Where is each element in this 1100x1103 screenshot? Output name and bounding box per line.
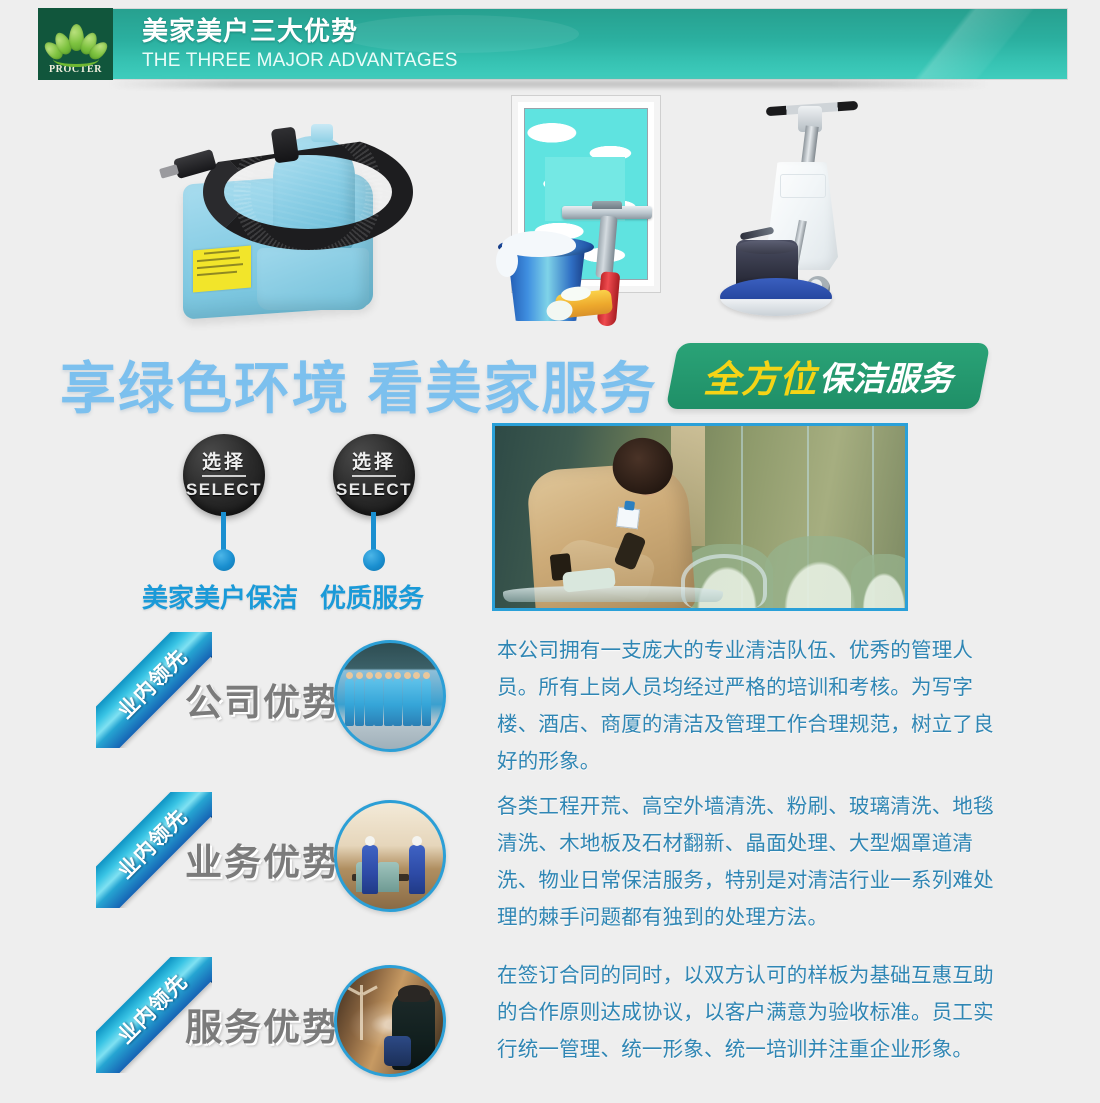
select-badge-2-label: 优质服务 bbox=[320, 578, 424, 615]
ribbon-text-1: 业内领先 bbox=[110, 641, 193, 724]
company-logo: PROCTER bbox=[38, 8, 113, 80]
advantage-title-3: 服务优势 bbox=[185, 997, 341, 1051]
ulv-sprayer-image bbox=[165, 98, 465, 328]
select-badge-1-en: SELECT bbox=[186, 481, 262, 498]
advantage-text-1: 本公司拥有一支庞大的专业清洁队伍、优秀的管理人员。所有上岗人员均经过严格的培训和… bbox=[497, 632, 1007, 780]
select-badge-1-cn: 选择 bbox=[202, 453, 246, 477]
staff-lineup-photo bbox=[334, 640, 446, 752]
advantage-row-business: 业内领先 业务优势 各类工程开荒、高空外墙清洗、粉刷、玻璃清洗、地毯清洗、木地板… bbox=[0, 788, 1100, 938]
full-service-banner: 全方位 保洁服务 bbox=[666, 343, 991, 409]
advantage-row-company: 业内领先 公司优势 本公司拥有一支庞大的专业清洁队伍、优秀的管理人员。所有上岗人… bbox=[0, 628, 1100, 778]
select-badge-2[interactable]: 选择 SELECT bbox=[333, 434, 415, 516]
select-badge-2-en: SELECT bbox=[336, 481, 412, 498]
floor-polisher-image bbox=[718, 90, 908, 330]
pin-dot-2 bbox=[363, 549, 385, 571]
select-badge-1[interactable]: 选择 SELECT bbox=[183, 434, 265, 516]
sprayer-spec-label bbox=[193, 245, 251, 292]
spraying-service-photo bbox=[334, 965, 446, 1077]
pin-stem-2 bbox=[371, 512, 376, 552]
staff-cleaning-glass-table-photo bbox=[492, 423, 908, 611]
advantage-text-2: 各类工程开荒、高空外墙清洗、粉刷、玻璃清洗、地毯清洗、木地板及石材翻新、晶面处理… bbox=[497, 788, 1007, 936]
advantage-row-service: 业内领先 服务优势 在签订合同的同时，以双方认可的样板为基础互惠互助的合作原则达… bbox=[0, 953, 1100, 1103]
ribbon-text-2: 业内领先 bbox=[110, 801, 193, 884]
product-image-row bbox=[0, 88, 1100, 338]
header-titles: 美家美户三大优势 THE THREE MAJOR ADVANTAGES bbox=[142, 17, 458, 73]
pin-dot-1 bbox=[213, 549, 235, 571]
header-drop-shadow bbox=[110, 80, 990, 88]
advantage-title-2: 业务优势 bbox=[185, 832, 341, 886]
page-header: PROCTER 美家美户三大优势 THE THREE MAJOR ADVANTA… bbox=[38, 8, 1068, 80]
advantage-title-1: 公司优势 bbox=[185, 672, 341, 726]
interior-cleaning-photo bbox=[334, 800, 446, 912]
pin-stem-1 bbox=[221, 512, 226, 552]
select-badge-2-cn: 选择 bbox=[352, 453, 396, 477]
leaf-crown-icon bbox=[45, 21, 107, 63]
ribbon-text-3: 业内领先 bbox=[110, 966, 193, 1049]
banner-rest-text: 保洁服务 bbox=[819, 352, 953, 400]
header-title-cn: 美家美户三大优势 bbox=[142, 17, 458, 47]
main-slogan: 享绿色环境 看美家服务 bbox=[60, 344, 658, 425]
advantages-page: PROCTER 美家美户三大优势 THE THREE MAJOR ADVANTA… bbox=[0, 0, 1100, 1096]
sprayer-hose bbox=[203, 134, 413, 250]
window-squeegee-bucket-image bbox=[498, 96, 678, 326]
select-badge-1-label: 美家美户保洁 bbox=[142, 578, 298, 615]
banner-highlight-text: 全方位 bbox=[703, 349, 817, 403]
advantage-text-3: 在签订合同的同时，以双方认可的样板为基础互惠互助的合作原则达成协议，以客户满意为… bbox=[497, 957, 1007, 1068]
header-title-en: THE THREE MAJOR ADVANTAGES bbox=[142, 50, 458, 73]
